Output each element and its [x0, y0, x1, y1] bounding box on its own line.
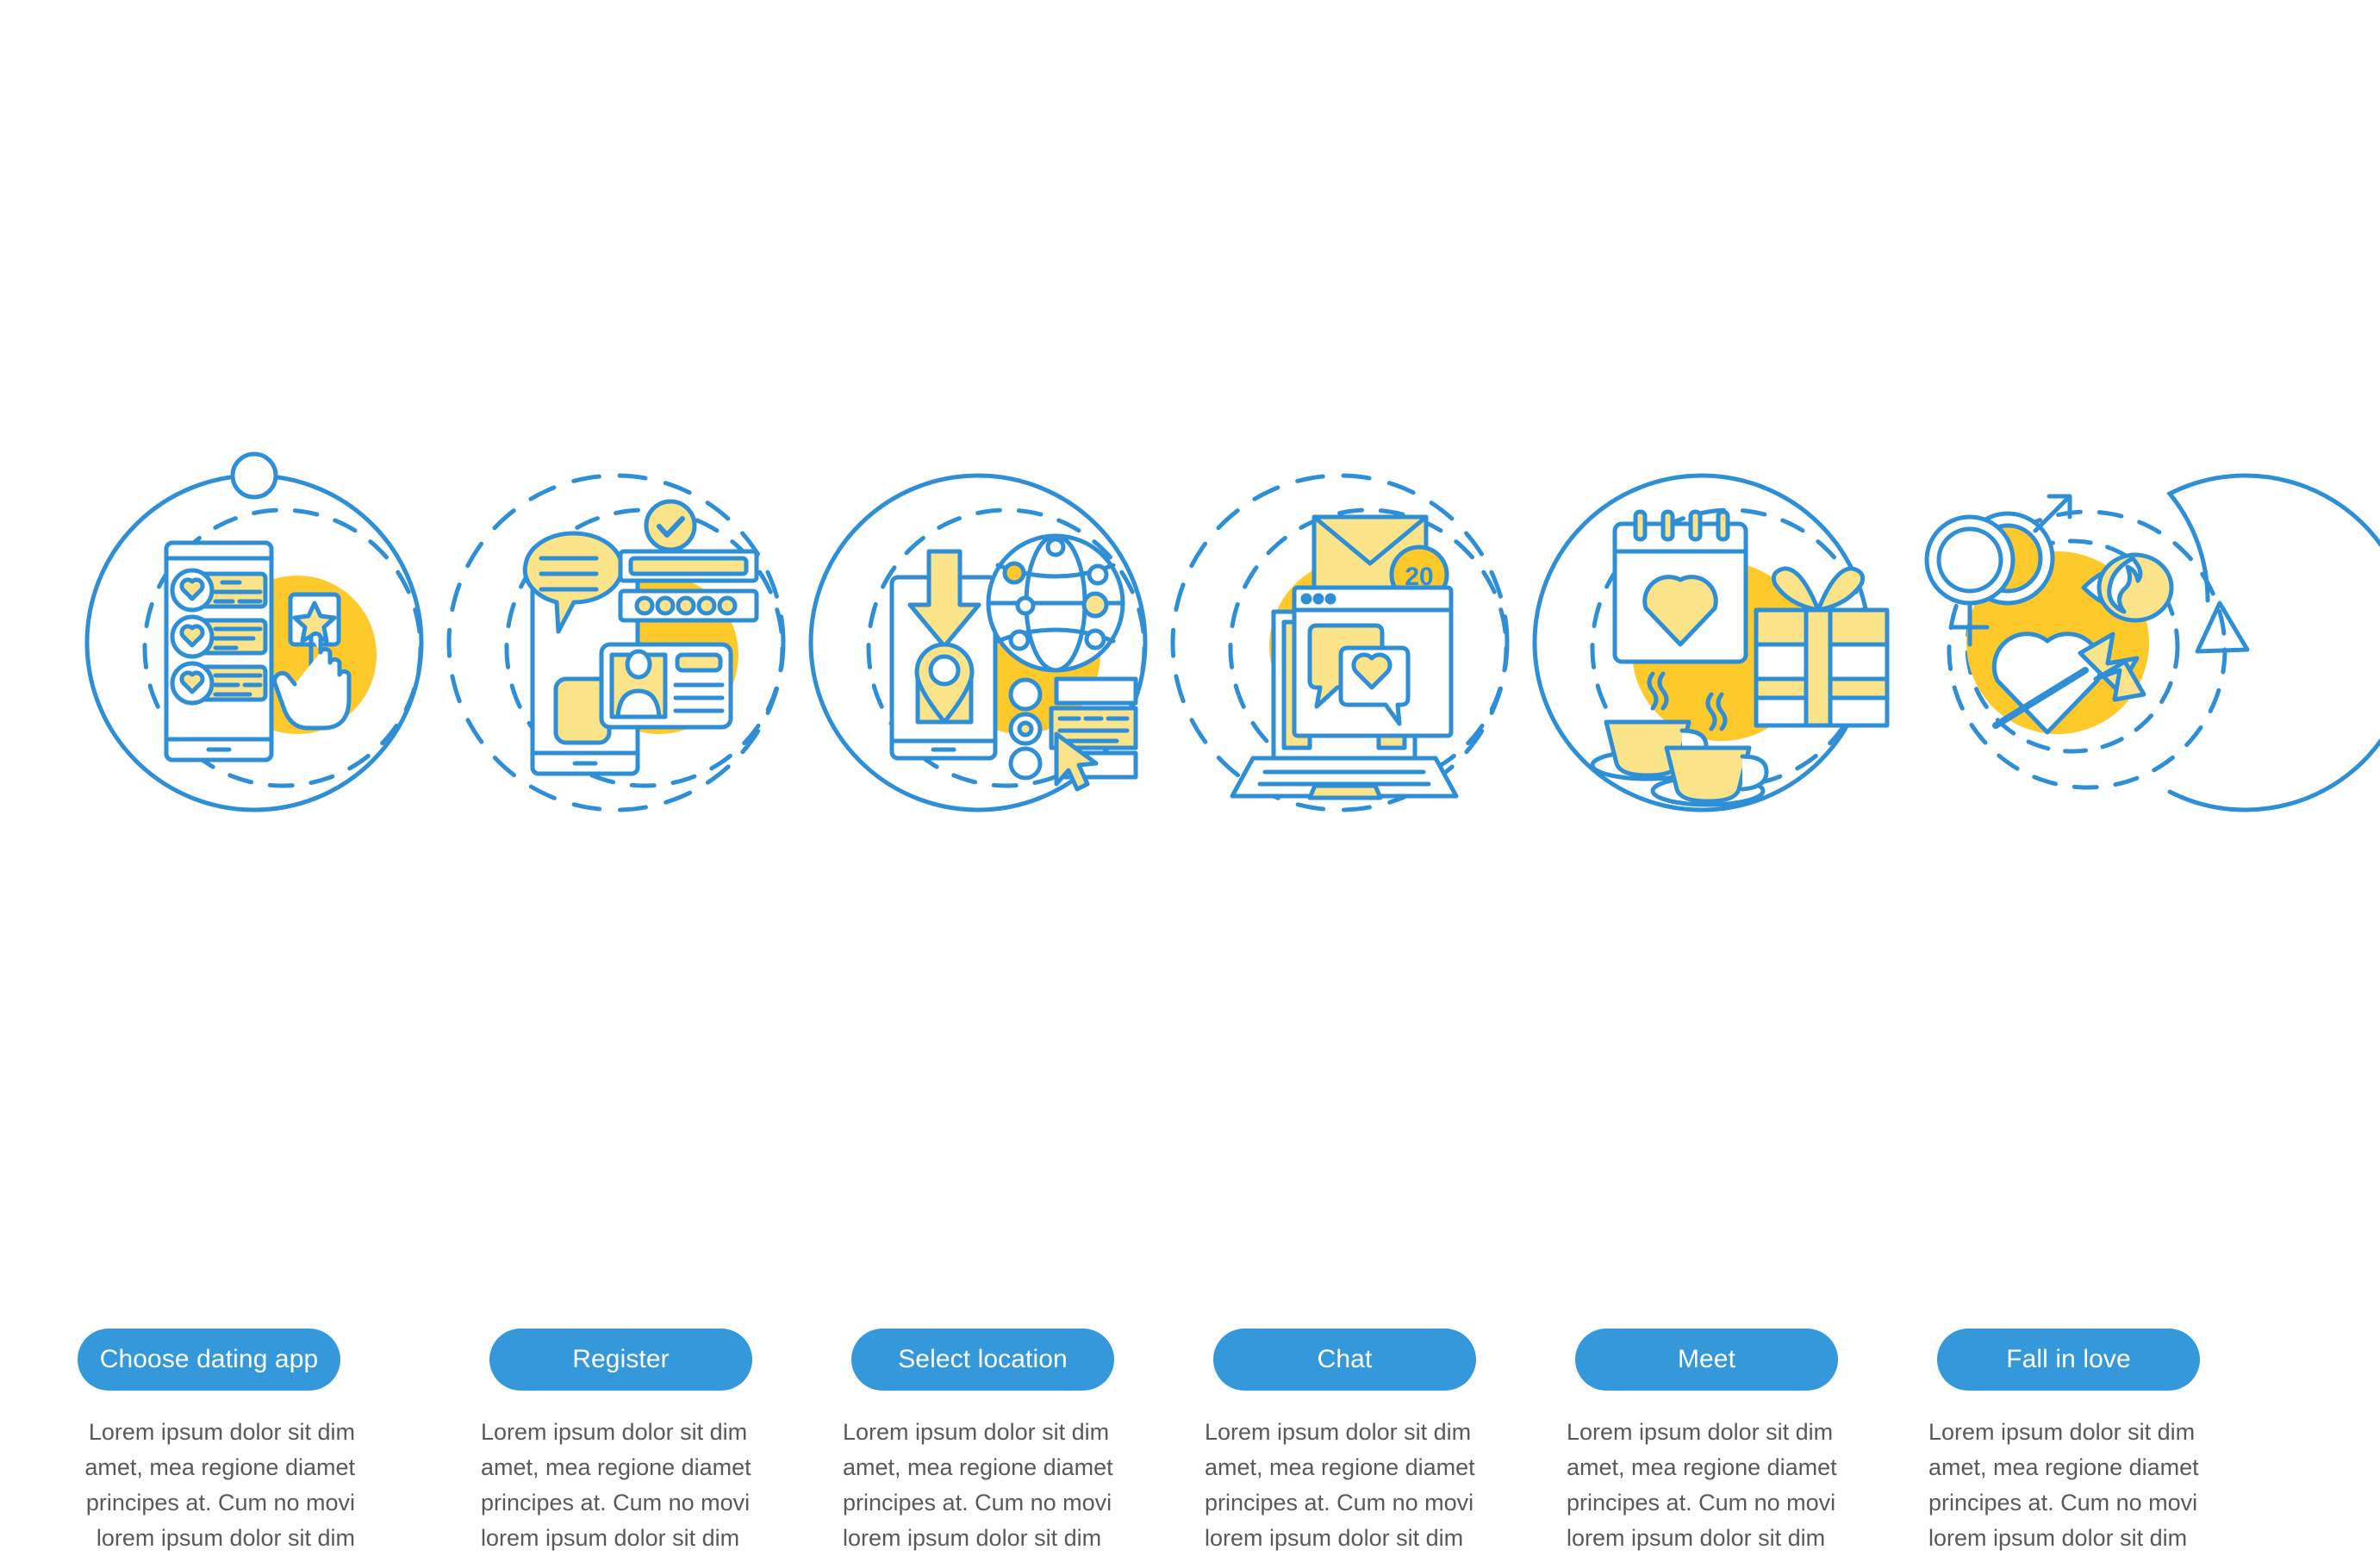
step-1-label: Choose dating app: [100, 1345, 319, 1374]
step-4-description: Lorem ipsum dolor sit dim amet, mea regi…: [1205, 1415, 1498, 1556]
step-3-description: Lorem ipsum dolor sit dim amet, mea regi…: [843, 1415, 1136, 1556]
step-2-description: Lorem ipsum dolor sit dim amet, mea regi…: [481, 1415, 774, 1556]
step-3-label-pill[interactable]: Select location: [851, 1329, 1114, 1391]
infographic-canvas: Choose dating app Lorem ipsum dolor sit …: [0, 0, 2380, 1542]
step-6-label-pill[interactable]: Fall in love: [1937, 1329, 2200, 1391]
step-6-graphic: [1887, 448, 2249, 853]
chat-icon: 20: [1232, 517, 1456, 798]
step-2-graphic: [439, 448, 801, 853]
step-2-label-pill[interactable]: Register: [489, 1329, 752, 1391]
step-column-6: Fall in love Lorem ipsum dolor sit dim a…: [1887, 448, 2249, 853]
step-6-description: Lorem ipsum dolor sit dim amet, mea regi…: [1928, 1415, 2221, 1556]
step-4-label-pill[interactable]: Chat: [1213, 1329, 1476, 1391]
step-4-graphic: 20: [1163, 448, 1525, 853]
step-3-graphic: [801, 448, 1163, 853]
step-5-graphic: [1525, 448, 1887, 853]
step-1-description: Lorem ipsum dolor sit dim amet, mea regi…: [62, 1415, 355, 1556]
step-5-label-pill[interactable]: Meet: [1575, 1329, 1838, 1391]
step-column-1: Choose dating app Lorem ipsum dolor sit …: [78, 448, 439, 853]
step-column-4: 20: [1163, 448, 1525, 853]
step-1-graphic: [78, 448, 439, 853]
step-1-label-pill[interactable]: Choose dating app: [78, 1329, 340, 1391]
dating-app-selection-icon: [166, 543, 349, 760]
step-5-label: Meet: [1678, 1345, 1735, 1374]
step-6-label: Fall in love: [2006, 1345, 2131, 1374]
step-2-label: Register: [572, 1345, 670, 1374]
step-column-2: Register Lorem ipsum dolor sit dim amet,…: [439, 448, 801, 853]
start-node-icon: [233, 454, 276, 497]
step-column-5: Meet Lorem ipsum dolor sit dim amet, mea…: [1525, 448, 1887, 853]
step-column-3: Select location Lorem ipsum dolor sit di…: [801, 448, 1163, 853]
step-5-description: Lorem ipsum dolor sit dim amet, mea regi…: [1567, 1415, 1860, 1556]
step-3-label: Select location: [898, 1345, 1068, 1374]
step-4-label: Chat: [1318, 1345, 1373, 1374]
